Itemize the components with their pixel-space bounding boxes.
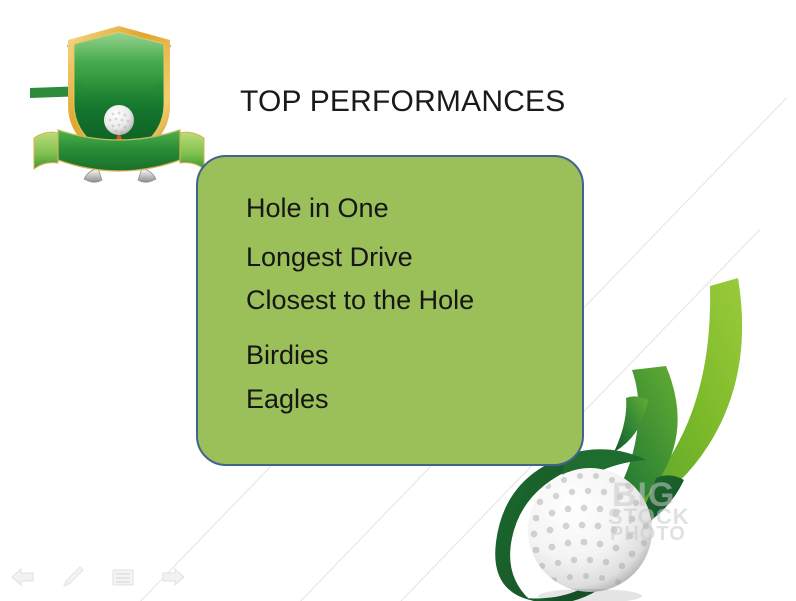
arrow-right-icon[interactable] [158, 564, 188, 590]
list-item: Closest to the Hole [246, 287, 474, 314]
golf-ball-icon [104, 105, 134, 135]
content-box: Hole in One Longest Drive Closest to the… [196, 155, 584, 466]
golf-shield-emblem [14, 18, 224, 198]
list-item: Longest Drive [246, 244, 474, 271]
list-item: Eagles [246, 386, 474, 413]
performance-list: Hole in One Longest Drive Closest to the… [246, 195, 474, 413]
menu-icon[interactable] [108, 564, 138, 590]
page-title: TOP PERFORMANCES [240, 84, 565, 120]
pen-icon[interactable] [58, 564, 88, 590]
list-item: Hole in One [246, 195, 474, 222]
ball-shadow [538, 589, 642, 601]
arrow-left-icon[interactable] [8, 564, 38, 590]
slide-canvas: TOP PERFORMANCES [0, 0, 796, 601]
list-item: Birdies [246, 342, 474, 369]
navigation-bar [8, 561, 188, 593]
